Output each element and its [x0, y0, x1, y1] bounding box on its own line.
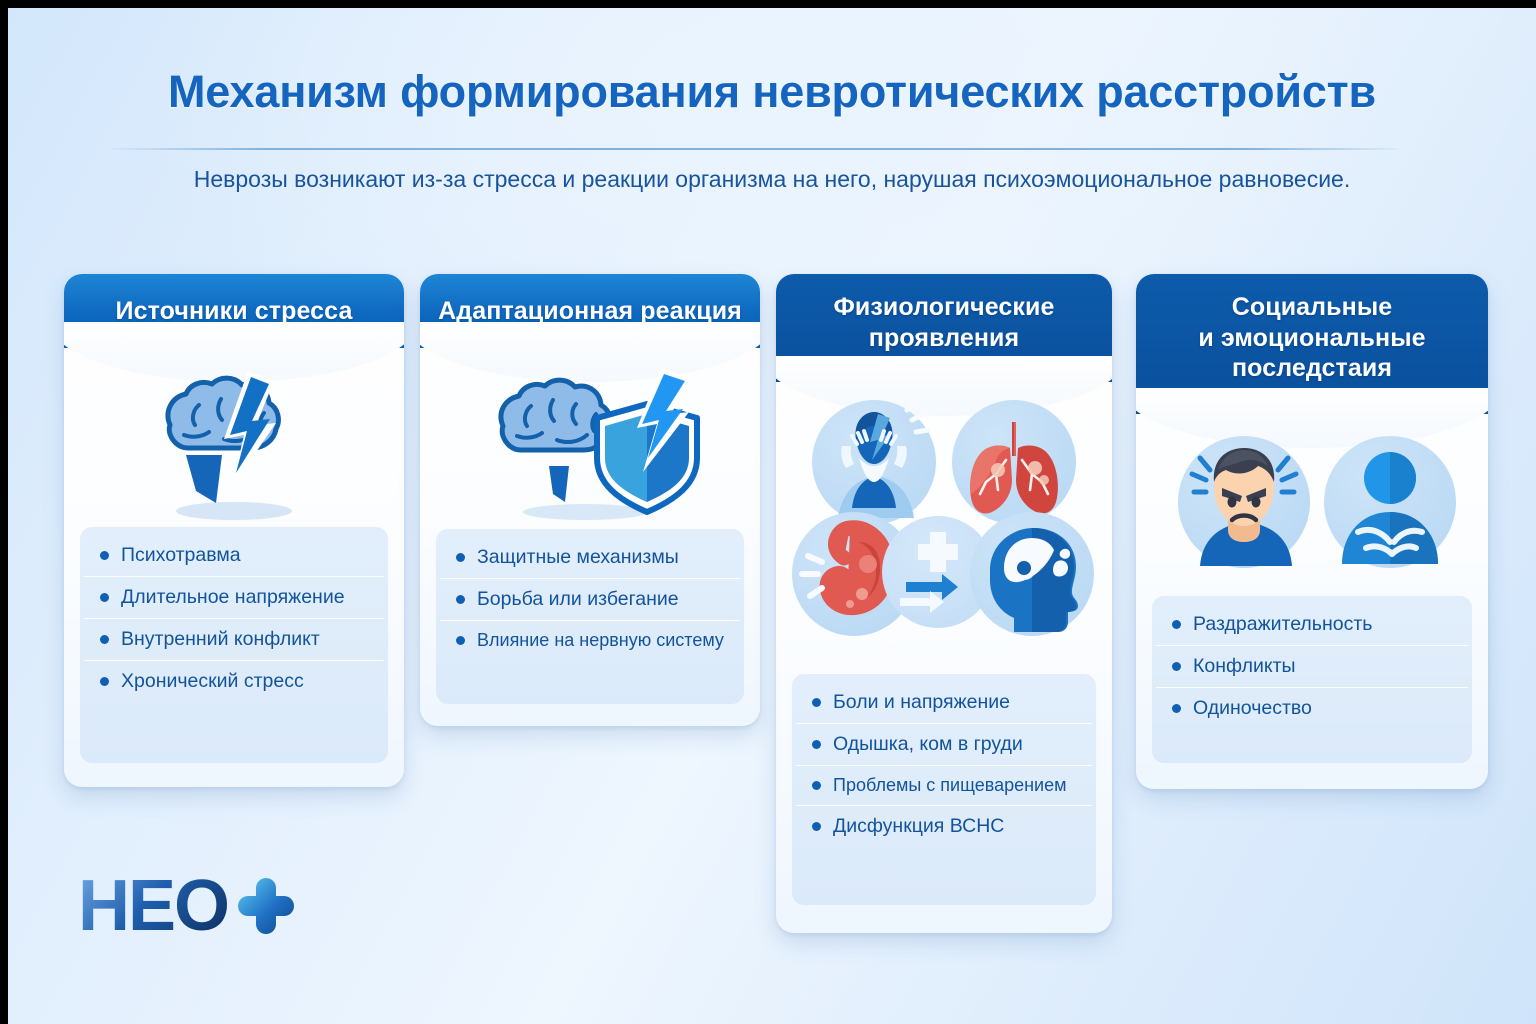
card-art-adaptive-reaction — [420, 356, 760, 528]
card-header-adaptive-reaction: Адаптационная реакция — [420, 274, 760, 348]
card-adaptive-reaction[interactable]: Адаптационная реакция За — [420, 274, 760, 726]
list-item-label: Внутренний конфликт — [121, 628, 320, 651]
list-item[interactable]: Дисфункция ВСНС — [796, 806, 1092, 847]
card-header-sources-of-stress: Источники стресса — [64, 274, 404, 348]
list-item[interactable]: Длительное напряжение — [84, 577, 384, 619]
head-profile-icon — [970, 512, 1094, 636]
lungs-icon — [952, 400, 1076, 524]
page-subtitle: Неврозы возникают из-за стресса и реакци… — [8, 166, 1536, 193]
bullet-icon — [100, 635, 109, 644]
list-item-label: Дисфункция ВСНС — [833, 815, 1004, 838]
list-item-label: Одышка, ком в груди — [833, 733, 1023, 756]
list-item-label: Боли и напряжение — [833, 691, 1010, 714]
list-item-label: Длительное напряжение — [121, 586, 345, 609]
list-item-label: Хронический стресс — [121, 670, 304, 693]
list-item-label: Защитные механизмы — [477, 546, 679, 569]
list-item[interactable]: Одиночество — [1156, 688, 1468, 729]
card-sources-of-stress[interactable]: Источники стресса Психотравма Длительное… — [64, 274, 404, 787]
list-item[interactable]: Хронический стресс — [84, 661, 384, 702]
brand-logo[interactable]: НЕО — [78, 870, 294, 942]
bullet-icon — [812, 822, 821, 831]
card-list-physiological-manifestations: Боли и напряжение Одышка, ком в груди Пр… — [792, 674, 1096, 905]
card-header-physiological-manifestations: Физиологические проявления — [776, 274, 1112, 382]
list-item[interactable]: Конфликты — [1156, 646, 1468, 688]
list-item[interactable]: Одышка, ком в груди — [796, 724, 1092, 766]
bullet-icon — [812, 781, 821, 790]
bullet-icon — [100, 551, 109, 560]
card-list-adaptive-reaction: Защитные механизмы Борьба или избегание … — [436, 529, 744, 704]
bullet-icon — [812, 740, 821, 749]
title-divider — [112, 148, 1398, 150]
list-item-label: Одиночество — [1193, 697, 1312, 720]
card-list-social-emotional-consequences: Раздражительность Конфликты Одиночество — [1152, 596, 1472, 763]
list-item[interactable]: Раздражительность — [1156, 604, 1468, 646]
brand-wordmark: НЕО — [78, 870, 228, 942]
list-item[interactable]: Психотравма — [84, 535, 384, 577]
list-item-label: Борьба или избегание — [477, 588, 679, 611]
card-header-social-emotional-consequences: Социальные и эмоциональные последстаия — [1136, 274, 1488, 414]
lonely-person-icon — [1324, 436, 1456, 568]
list-item[interactable]: Борьба или избегание — [440, 579, 740, 621]
brain-icon — [501, 380, 610, 450]
card-art-sources-of-stress — [64, 358, 404, 528]
list-item[interactable]: Влияние на нервную систему — [440, 621, 740, 660]
bullet-icon — [812, 698, 821, 707]
card-list-sources-of-stress: Психотравма Длительное напряжение Внутре… — [80, 527, 388, 763]
card-physiological-manifestations[interactable]: Физиологические проявления — [776, 274, 1112, 933]
bullet-icon — [456, 595, 465, 604]
list-item[interactable]: Боли и напряжение — [796, 682, 1092, 724]
brain-lightning-illustration — [124, 363, 344, 523]
card-social-emotional-consequences[interactable]: Социальные и эмоциональные последстаия — [1136, 274, 1488, 789]
card-art-physiological-manifestations — [776, 382, 1112, 652]
bullet-icon — [1172, 704, 1181, 713]
bullet-icon — [1172, 620, 1181, 629]
bullet-icon — [456, 553, 465, 562]
bullet-icon — [456, 636, 465, 645]
plus-icon — [238, 878, 294, 934]
card-title-social-emotional-consequences: Социальные и эмоциональные последстаия — [1198, 292, 1425, 384]
headache-person-icon — [812, 400, 936, 524]
list-item[interactable]: Проблемы с пищеварением — [796, 766, 1092, 806]
list-item-label: Раздражительность — [1193, 613, 1372, 636]
list-item-label: Психотравма — [121, 544, 241, 567]
list-item-label: Конфликты — [1193, 655, 1296, 678]
list-item-label: Влияние на нервную систему — [477, 630, 724, 651]
brain-shield-illustration — [465, 362, 715, 522]
angry-face-icon — [1178, 436, 1310, 568]
card-title-physiological-manifestations: Физиологические проявления — [776, 292, 1112, 353]
list-item[interactable]: Внутренний конфликт — [84, 619, 384, 661]
bullet-icon — [100, 593, 109, 602]
page-title: Механизм формирования невротических расс… — [8, 66, 1536, 118]
infographic-canvas: Механизм формирования невротических расс… — [8, 8, 1536, 1024]
list-item[interactable]: Защитные механизмы — [440, 537, 740, 579]
list-item-label: Проблемы с пищеварением — [833, 775, 1066, 796]
card-art-social-emotional-consequences — [1136, 414, 1488, 589]
bullet-icon — [100, 677, 109, 686]
bullet-icon — [1172, 662, 1181, 671]
